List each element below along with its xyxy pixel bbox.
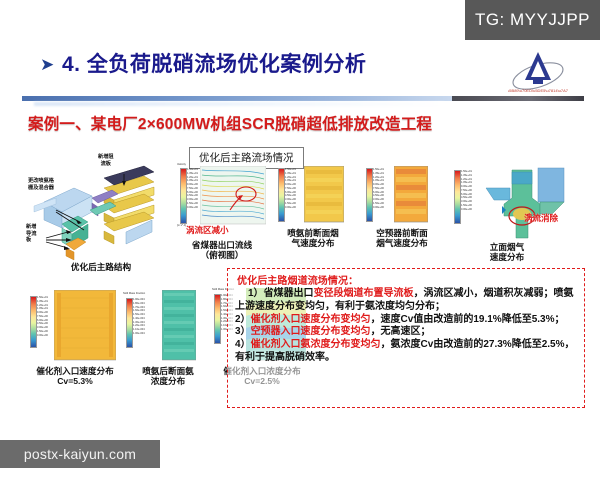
institute-logo-icon: \u897F\u5B89\u70ED\u5DE5\u7814\u7A76\u96… [508,46,568,98]
mass-fraction-colorbar [214,294,221,344]
content-panel: 优化后主路流场情况 [22,140,588,440]
figure-caption: 喷氨后断面氨 浓度分布 [122,366,214,386]
item-post: ，无高速区； [371,326,431,337]
item-highlight: 催化剂入口氨浓度分布变均匀 [251,339,381,350]
summary-item-4: 4）催化剂入口氨浓度分布变均匀，氨浓度Cv由改造前的27.3%降低至2.5%，有… [235,339,578,365]
case-banner-title: 案例一、某电厂2×600MW机组SCR脱硝超低排放改造工程 [28,112,458,138]
bullet-arrow-icon: ➤ [40,56,54,73]
mass-fraction-colorbar [126,298,133,348]
item-number: 1） [248,288,264,299]
annotation-vortex-reduced: 涡流区减小 [186,224,229,236]
item-number: 4） [235,339,251,350]
velocity-colorbar [180,168,187,224]
figure-pre-air-preheater-section-velocity: 1.50e+01 1.35e+01 1.20e+01 1.05e+01 9.00… [356,162,448,280]
velocity-contour [394,166,428,224]
label-new-guide-plate: 新增 导流 板 [26,224,36,244]
colorbar-ticks: 1.50e+01 1.35e+01 1.20e+01 1.05e+01 9.00… [285,168,296,209]
summary-item-3: 3）空预器入口速度分布变均匀，无高速区； [235,326,578,339]
item-number: 3） [235,326,251,337]
colorbar-ticks: 1.90e-004 1.80e-004 1.70e-004 1.60e-004 … [133,298,145,336]
annotation-vortex-eliminated: 涡流消除 [524,212,558,224]
streamline-contour [200,166,266,226]
svg-text:\u897F\u5B89\u70ED\u5DE5\u7814: \u897F\u5B89\u70ED\u5DE5\u7814\u7A76\u96… [508,88,568,93]
divider-blue-segment [22,96,452,101]
velocity-colorbar [278,168,285,222]
colorbar-ticks: 1.50e+01 1.35e+01 1.20e+01 1.05e+01 9.00… [187,168,198,209]
page-title: 4. 全负荷脱硝流场优化案例分析 [62,48,366,78]
colorbar-ticks: 1.50e+01 1.35e+01 1.20e+01 1.05e+01 9.00… [461,170,472,211]
label-ammonia-grid-mixer: 更改喷氨格 栅及混合器 [28,178,54,191]
summary-red-box: 优化后主路烟道流场情况： 1）省煤器出口变径段烟道布置导流板，涡流区减小，烟道积… [227,268,585,408]
item-highlight: 空预器入口速度分布变均匀 [251,326,371,337]
summary-item-2: 2）催化剂入口速度分布变均匀，速度Cv值由改造前的19.1%降低至5.3%； [235,314,578,327]
summary-item-1: 1）省煤器出口变径段烟道布置导流板，涡流区减小，烟道积灰减弱；喷氨上游速度分布变… [235,288,578,314]
colorbar-unit: [m s^-1] [177,224,186,227]
figure-caption: 催化剂入口速度分布 Cv=5.3% [28,366,122,386]
header-divider [22,96,584,108]
site-watermark: postx-kaiyun.com [0,440,160,468]
telegram-watermark: TG: MYYJJPP [465,0,600,40]
item-highlight: 催化剂入口速度分布变均匀 [251,314,371,325]
colorbar-ticks: 1.50e+01 1.35e+01 1.20e+01 1.05e+01 9.00… [373,168,384,209]
figure-catalyst-inlet-velocity: 1.50e+01 1.35e+01 1.20e+01 1.05e+01 9.00… [28,286,122,406]
figure-vertical-plane-flue-gas-velocity: 1.50e+01 1.35e+01 1.20e+01 1.05e+01 9.00… [448,162,588,280]
summary-heading: 优化后主路烟道流场情况： [237,272,578,287]
figure-caption: 优化后主路结构 [26,262,176,272]
vertical-plane-contour [482,164,576,240]
figure-caption: 立面烟气 速度分布 [472,242,542,262]
colorbar-title: NH3 Mass Fraction [123,292,145,295]
figure-optimized-main-path-structure: 新增阻 流板 更改喷氨格 栅及混合器 新增 导流 板 优化后主路结构 [26,162,176,280]
divider-dark-segment [452,96,584,101]
figure-post-ammonia-section-concentration: NH3 Mass Fraction 1.90e-004 1.80e-004 1.… [122,286,214,406]
figure-caption: 喷氨前断面烟 气速度分布 [270,228,356,248]
colorbar-title: Velocity [177,163,186,166]
item-post: ，速度Cv值由改造前的19.1%降低至5.3%； [371,314,565,325]
velocity-contour [304,166,344,224]
catalyst-velocity-contour [54,290,116,362]
velocity-colorbar [454,170,461,224]
item-number: 2） [235,314,251,325]
slide-root: TG: MYYJJPP ➤ 4. 全负荷脱硝流场优化案例分析 \u897F\u5… [0,0,600,480]
item-highlight: 变径段烟道布置导流板 [314,288,414,299]
colorbar-ticks: 1.50e+01 1.35e+01 1.20e+01 1.05e+01 9.00… [37,296,48,337]
figure-caption: 省煤器出口流线 （俯视图） [174,240,270,260]
item-pre: 省煤器出口 [264,288,314,299]
ammonia-concentration-contour [162,290,196,362]
divider-glow [34,102,444,106]
duct-3d-diagram [26,162,176,262]
velocity-colorbar [366,168,373,222]
figure-caption: 空预器前断面 烟气速度分布 [356,228,448,248]
figure-pre-ammonia-section-velocity: 1.50e+01 1.35e+01 1.20e+01 1.05e+01 9.00… [270,162,356,280]
figure-economizer-outlet-streamline: Velocity 1.50e+01 1.35e+01 1.20e+01 1.05… [174,162,270,280]
label-new-baffle-plate: 新增阻 流板 [98,154,114,167]
velocity-colorbar [30,296,37,348]
